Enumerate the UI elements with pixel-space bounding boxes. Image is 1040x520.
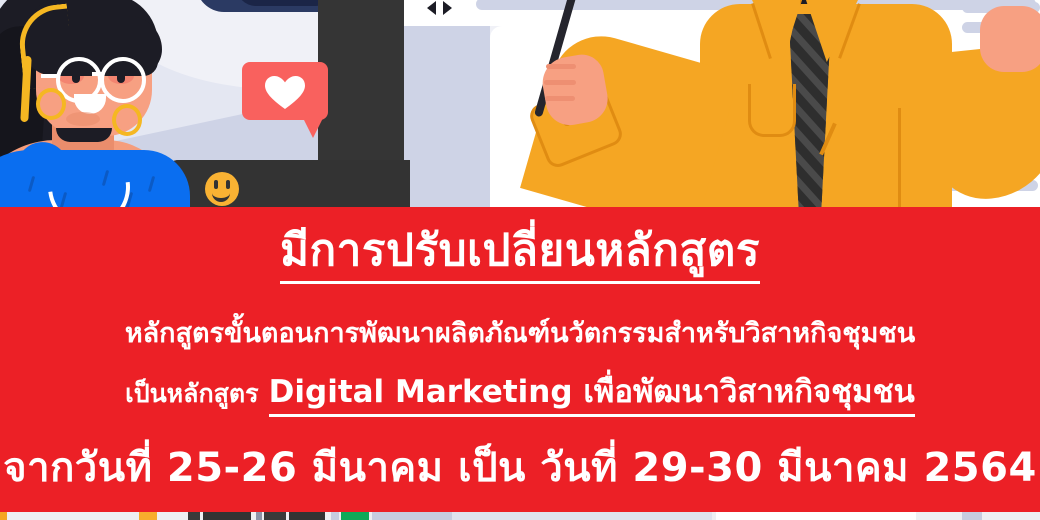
strip-block [916, 512, 960, 520]
strip-block [139, 512, 157, 520]
strip-block [256, 512, 262, 520]
strip-block [203, 512, 251, 520]
hoop-earring-left [36, 88, 66, 120]
announcement-banner: มีการปรับเปลี่ยนหลักสูตร หลักสูตรขั้นตอน… [0, 207, 1040, 512]
presenter-finger [544, 80, 576, 85]
bottom-edge-strip [0, 512, 1040, 520]
header-illustration [0, 0, 1040, 210]
monitor-side-panel [318, 0, 404, 160]
strip-block [452, 512, 712, 520]
woman-choker [56, 128, 112, 142]
presenter-fist [980, 6, 1040, 72]
glasses-bridge [92, 72, 104, 76]
strip-block [372, 512, 452, 520]
banner-subline-new-course: เป็นหลักสูตร Digital Marketing เพื่อพัฒน… [0, 377, 1040, 408]
strip-block [264, 512, 286, 520]
strip-block [188, 512, 200, 520]
poster-root: มีการปรับเปลี่ยนหลักสูตร หลักสูตรขั้นตอน… [0, 0, 1040, 520]
browser-sidebar [402, 26, 490, 210]
hoop-earring-right [112, 104, 142, 136]
chevron-right-icon[interactable] [443, 1, 452, 15]
strip-block [289, 512, 325, 520]
chevron-left-icon[interactable] [427, 1, 436, 15]
heart-icon [265, 76, 305, 110]
banner-headline: มีการปรับเปลี่ยนหลักสูตร [0, 229, 1040, 273]
strip-block [331, 512, 339, 520]
strip-block [341, 512, 369, 520]
banner-subline-old-course: หลักสูตรขั้นตอนการพัฒนาผลิตภัณฑ์นวัตกรรม… [0, 320, 1040, 347]
presenter-shirt-seam [898, 108, 901, 210]
glasses-temple [41, 74, 59, 78]
strip-block [716, 512, 916, 520]
presenter-finger [545, 96, 575, 101]
banner-dateline: จากวันที่ 25-26 มีนาคม เป็น วันที่ 29-30… [0, 448, 1040, 488]
glasses-lens-right [100, 57, 146, 103]
strip-block [0, 512, 7, 520]
headline-text: มีการปรับเปลี่ยนหลักสูตร [280, 225, 760, 284]
presenter-finger [546, 64, 576, 69]
woman-chin-shadow [66, 112, 100, 126]
presenter-shirt-pocket [748, 84, 796, 137]
strip-block [962, 512, 982, 520]
like-bubble-tail [303, 118, 323, 138]
new-course-name: Digital Marketing เพื่อพัฒนาวิสาหกิจชุมช… [269, 374, 915, 417]
strip-block [984, 512, 1040, 520]
new-course-prefix: เป็นหลักสูตร [125, 379, 258, 408]
